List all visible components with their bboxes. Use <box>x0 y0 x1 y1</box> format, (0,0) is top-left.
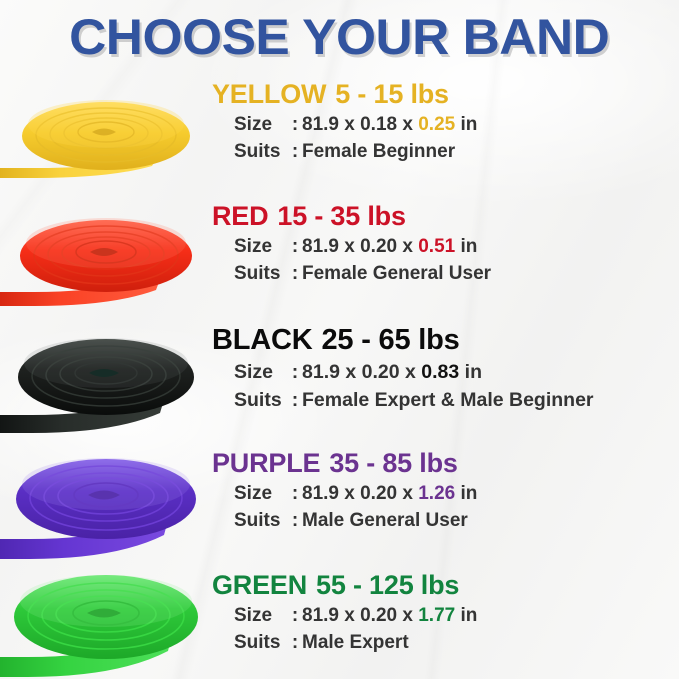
band-suits-row: Suits:Female Expert & Male Beginner <box>212 387 679 415</box>
band-info-red: RED15 - 35 lbs Size:81.9 x 0.20 x 0.51 i… <box>212 196 679 319</box>
band-suits-row: Suits:Male Expert <box>212 630 679 657</box>
suits-label: Suits <box>234 139 288 166</box>
resistance-band-coil-icon <box>0 196 212 319</box>
band-row: RED15 - 35 lbs Size:81.9 x 0.20 x 0.51 i… <box>0 196 679 319</box>
band-row: GREEN55 - 125 lbs Size:81.9 x 0.20 x 1.7… <box>0 565 679 679</box>
resistance-band-coil-icon <box>0 443 212 565</box>
size-label: Size <box>234 112 288 139</box>
size-width-highlight: 0.25 <box>418 112 455 139</box>
band-image-yellow <box>0 74 212 196</box>
suits-value: Female Expert & Male Beginner <box>302 387 594 415</box>
page-title-container: CHOOSE YOUR BAND <box>0 0 679 74</box>
size-colon: : <box>288 481 302 508</box>
suits-value: Female Beginner <box>302 139 455 166</box>
resistance-band-coil-icon <box>0 565 212 679</box>
suits-label: Suits <box>234 508 288 535</box>
size-unit: in <box>460 112 477 139</box>
band-suits-row: Suits:Female General User <box>212 261 679 288</box>
band-row: PURPLE35 - 85 lbs Size:81.9 x 0.20 x 1.2… <box>0 443 679 565</box>
band-image-red <box>0 196 212 319</box>
suits-colon: : <box>288 139 302 166</box>
band-info-green: GREEN55 - 125 lbs Size:81.9 x 0.20 x 1.7… <box>212 565 679 679</box>
size-prefix: 81.9 x 0.20 x <box>302 359 416 387</box>
band-name: GREEN <box>212 570 307 600</box>
size-prefix: 81.9 x 0.18 x <box>302 112 413 139</box>
band-resistance: 15 - 35 lbs <box>277 201 405 231</box>
size-label: Size <box>234 481 288 508</box>
band-image-purple <box>0 443 212 565</box>
band-info-black: BLACK25 - 65 lbs Size:81.9 x 0.20 x 0.83… <box>212 319 679 443</box>
band-resistance: 5 - 15 lbs <box>335 79 449 109</box>
band-heading: GREEN55 - 125 lbs <box>212 571 679 600</box>
suits-value: Female General User <box>302 261 491 288</box>
size-unit: in <box>460 481 477 508</box>
band-resistance: 55 - 125 lbs <box>316 570 459 600</box>
suits-colon: : <box>288 630 302 657</box>
suits-colon: : <box>288 261 302 288</box>
size-prefix: 81.9 x 0.20 x <box>302 603 413 630</box>
band-size-row: Size:81.9 x 0.20 x 1.77 in <box>212 603 679 630</box>
band-resistance: 25 - 65 lbs <box>322 324 460 356</box>
size-label: Size <box>234 234 288 261</box>
band-resistance: 35 - 85 lbs <box>329 448 457 478</box>
size-prefix: 81.9 x 0.20 x <box>302 481 413 508</box>
band-size-row: Size:81.9 x 0.20 x 1.26 in <box>212 481 679 508</box>
band-image-green <box>0 565 212 679</box>
suits-label: Suits <box>234 261 288 288</box>
band-info-yellow: YELLOW5 - 15 lbs Size:81.9 x 0.18 x 0.25… <box>212 74 679 196</box>
size-prefix: 81.9 x 0.20 x <box>302 234 413 261</box>
size-label: Size <box>234 603 288 630</box>
infographic-page: CHOOSE YOUR BAND <box>0 0 679 679</box>
band-size-row: Size:81.9 x 0.20 x 0.51 in <box>212 234 679 261</box>
suits-colon: : <box>288 508 302 535</box>
size-unit: in <box>465 359 482 387</box>
size-label: Size <box>234 359 288 387</box>
band-name: BLACK <box>212 324 313 356</box>
size-width-highlight: 1.77 <box>418 603 455 630</box>
size-width-highlight: 0.83 <box>421 359 459 387</box>
band-row: BLACK25 - 65 lbs Size:81.9 x 0.20 x 0.83… <box>0 319 679 443</box>
band-heading: RED15 - 35 lbs <box>212 202 679 231</box>
suits-label: Suits <box>234 630 288 657</box>
size-unit: in <box>460 234 477 261</box>
band-name: PURPLE <box>212 448 320 478</box>
suits-value: Male Expert <box>302 630 409 657</box>
band-heading: YELLOW5 - 15 lbs <box>212 80 679 109</box>
band-size-row: Size:81.9 x 0.18 x 0.25 in <box>212 112 679 139</box>
band-heading: PURPLE35 - 85 lbs <box>212 449 679 478</box>
band-name: RED <box>212 201 268 231</box>
size-unit: in <box>460 603 477 630</box>
resistance-band-coil-icon <box>0 319 212 443</box>
size-width-highlight: 1.26 <box>418 481 455 508</box>
size-colon: : <box>288 234 302 261</box>
suits-label: Suits <box>234 387 288 415</box>
band-row: YELLOW5 - 15 lbs Size:81.9 x 0.18 x 0.25… <box>0 74 679 196</box>
band-suits-row: Suits:Male General User <box>212 508 679 535</box>
page-title: CHOOSE YOUR BAND <box>69 12 609 62</box>
resistance-band-coil-icon <box>0 74 212 196</box>
suits-colon: : <box>288 387 302 415</box>
size-colon: : <box>288 112 302 139</box>
band-info-purple: PURPLE35 - 85 lbs Size:81.9 x 0.20 x 1.2… <box>212 443 679 565</box>
size-colon: : <box>288 603 302 630</box>
band-image-black <box>0 319 212 443</box>
band-name: YELLOW <box>212 79 326 109</box>
band-size-row: Size:81.9 x 0.20 x 0.83 in <box>212 359 679 387</box>
band-heading: BLACK25 - 65 lbs <box>212 325 679 356</box>
suits-value: Male General User <box>302 508 468 535</box>
size-width-highlight: 0.51 <box>418 234 455 261</box>
size-colon: : <box>288 359 302 387</box>
band-suits-row: Suits:Female Beginner <box>212 139 679 166</box>
